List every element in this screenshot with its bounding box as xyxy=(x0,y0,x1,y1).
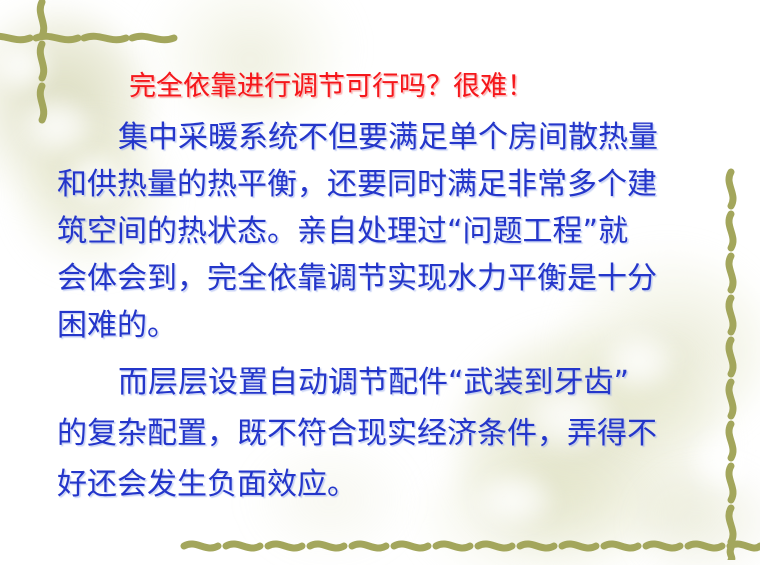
body-line: 和供热量的热平衡，还要同时满足非常多个建 xyxy=(57,166,657,204)
slide-canvas: 完全依靠进行调节可行吗？很难！ 集中采暖系统不但要满足单个房间散热量 和供热量的… xyxy=(0,0,760,565)
slide-title: 完全依靠进行调节可行吗？很难！ xyxy=(129,70,534,104)
body-line: 而层层设置自动调节配件“武装到牙齿” xyxy=(118,364,629,402)
slide-text-body: 完全依靠进行调节可行吗？很难！ 集中采暖系统不但要满足单个房间散热量 和供热量的… xyxy=(0,0,760,565)
body-line: 筑空间的热状态。亲自处理过“问题工程”就 xyxy=(57,213,628,251)
body-line: 集中采暖系统不但要满足单个房间散热量 xyxy=(118,119,658,157)
body-line: 的复杂配置，既不符合现实经济条件，弄得不 xyxy=(57,415,657,453)
body-line: 困难的。 xyxy=(57,307,177,345)
body-line: 会体会到，完全依靠调节实现水力平衡是十分 xyxy=(57,260,657,298)
body-line: 好还会发生负面效应。 xyxy=(57,466,357,504)
